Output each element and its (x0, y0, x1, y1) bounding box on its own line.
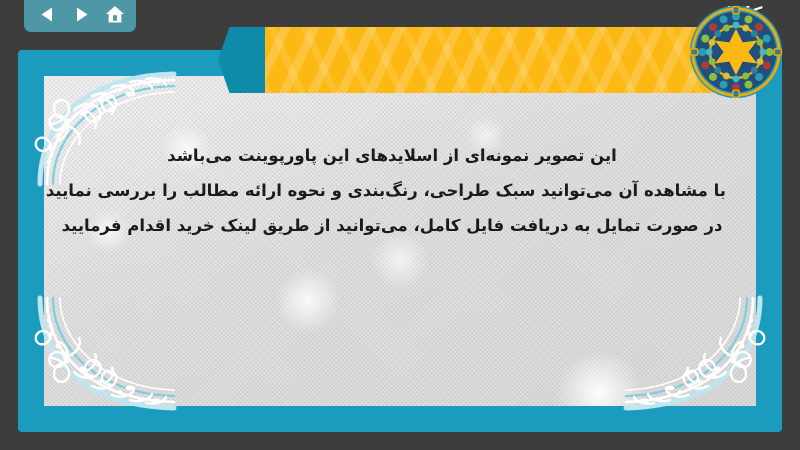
navigation-bar (24, 0, 136, 32)
body-line-3: در صورت تمایل به دریافت فایل کامل، می‌تو… (58, 208, 726, 243)
slide-body-text: این تصویر نمونه‌ای از اسلایدهای این پاور… (58, 138, 726, 243)
slide-viewer: کامل شناسایی عوامل مؤثر در توانمندسازی ن… (0, 0, 800, 450)
back-button[interactable] (34, 2, 60, 26)
forward-button[interactable] (68, 2, 94, 26)
body-line-1: این تصویر نمونه‌ای از اسلایدهای این پاور… (58, 138, 726, 173)
home-icon (105, 5, 125, 24)
home-button[interactable] (102, 2, 128, 26)
back-arrow-icon (39, 6, 56, 23)
title-banner (265, 0, 726, 93)
banner-top-mask (265, 0, 726, 27)
islamic-star-medallion-icon (688, 4, 784, 100)
slide-frame: این تصویر نمونه‌ای از اسلایدهای این پاور… (18, 50, 782, 432)
forward-arrow-icon (73, 6, 90, 23)
body-line-2: با مشاهده آن می‌توانید سبک طراحی، رنگ‌بن… (58, 173, 726, 208)
